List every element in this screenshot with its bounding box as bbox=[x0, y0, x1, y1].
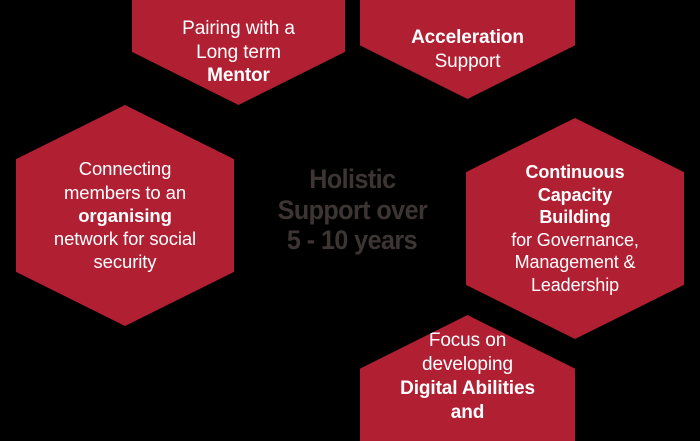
hex-text-line: Building bbox=[539, 207, 610, 227]
center-label: Holistic Support over 5 - 10 years bbox=[236, 155, 468, 265]
diagram-canvas: Pairing with aLong termMentor Accelerati… bbox=[0, 0, 700, 441]
hex-text-line: Continuous bbox=[526, 162, 625, 182]
hex-cell-mentor-text: Pairing with aLong termMentor bbox=[132, 0, 345, 88]
hex-text-line: Leadership bbox=[531, 275, 619, 295]
center-label-line-1: Holistic bbox=[309, 164, 395, 195]
hex-cell-capacity[interactable]: ContinuousCapacityBuildingfor Governance… bbox=[466, 118, 684, 339]
hex-text-line: Connecting bbox=[79, 158, 172, 179]
hex-cell-acceleration[interactable]: AccelerationSupport bbox=[360, 0, 575, 99]
hex-text-line: network for social bbox=[54, 228, 196, 249]
hex-text-line: Pairing with a bbox=[182, 18, 295, 39]
hex-text-line: Focus on bbox=[429, 330, 506, 351]
hex-cell-capacity-text: ContinuousCapacityBuildingfor Governance… bbox=[466, 161, 684, 296]
hex-cell-digital-text: Focus ondevelopingDigital Abilitiesand bbox=[360, 329, 575, 441]
hex-text-line: Support bbox=[435, 51, 501, 72]
hex-text-line: Capacity bbox=[538, 185, 612, 205]
hex-text-line: Long term bbox=[196, 42, 281, 63]
hex-text-line: Management & bbox=[515, 252, 636, 272]
hex-cell-organising[interactable]: Connectingmembers to anorganisingnetwork… bbox=[16, 105, 234, 326]
hex-text-line: developing bbox=[422, 354, 513, 375]
hex-text-line: and bbox=[451, 402, 484, 423]
hex-cell-mentor[interactable]: Pairing with aLong termMentor bbox=[132, 0, 345, 105]
hex-cell-acceleration-text: AccelerationSupport bbox=[360, 0, 575, 73]
center-label-line-2: Support over bbox=[277, 195, 427, 226]
hex-text-line: security bbox=[94, 251, 157, 272]
hex-text-line: Acceleration bbox=[411, 27, 524, 48]
hex-text-line: Mentor bbox=[207, 65, 270, 86]
hex-cell-digital[interactable]: Focus ondevelopingDigital Abilitiesand bbox=[360, 315, 575, 441]
hex-text-line: organising bbox=[78, 205, 172, 226]
hex-cell-organising-text: Connectingmembers to anorganisingnetwork… bbox=[16, 157, 234, 273]
center-label-line-3: 5 - 10 years bbox=[287, 225, 417, 256]
hex-text-line: members to an bbox=[64, 182, 186, 203]
hex-text-line: Digital Abilities bbox=[400, 378, 535, 399]
hex-text-line: for Governance, bbox=[511, 230, 639, 250]
